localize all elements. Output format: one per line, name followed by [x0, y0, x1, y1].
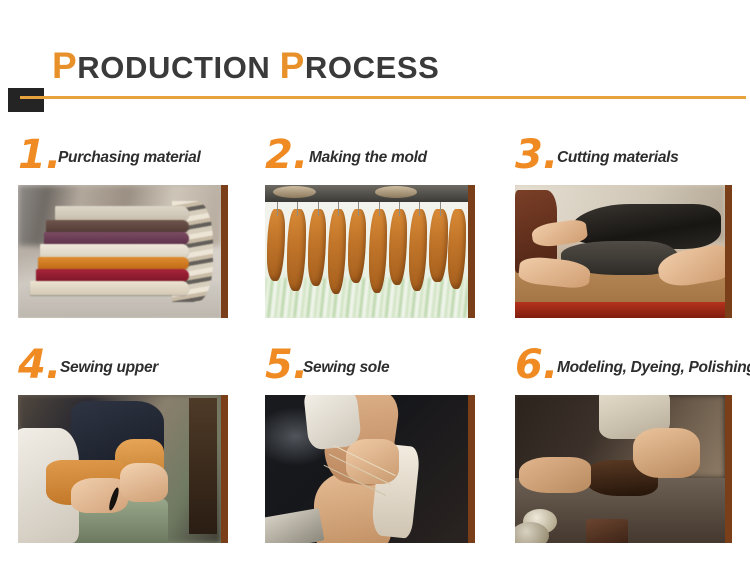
step-1-header: 1. Purchasing material [18, 139, 233, 185]
step-1-photo-inner [18, 185, 221, 318]
leather-layer [40, 244, 188, 259]
step-3-number: 3. [515, 133, 558, 177]
worker-hand [519, 457, 590, 493]
shoe-last [267, 209, 285, 281]
step-5-header: 5. Sewing sole [265, 349, 480, 395]
workbench-tray [265, 508, 324, 543]
worker-hand [346, 439, 399, 483]
shoe-last [389, 209, 407, 285]
shoe-last [429, 209, 447, 282]
step-6-photo [515, 395, 732, 543]
shoe-last [448, 209, 466, 289]
polishing-rag [586, 519, 628, 543]
leather-layer [55, 206, 189, 221]
step-6-photo-inner [515, 395, 725, 543]
process-step-1: 1. Purchasing material [18, 139, 233, 318]
step-6-label: Modeling, Dyeing, Polishing [557, 359, 750, 377]
step-4-number: 4. [18, 343, 61, 387]
process-step-2: 2. Making the mold [265, 139, 480, 318]
shoe-last [348, 209, 366, 283]
worker-hand [633, 428, 700, 478]
worker-hand [120, 463, 169, 501]
process-step-3: 3. Cutting materials [515, 139, 735, 318]
wooden-chair [189, 398, 217, 534]
step-3-photo [515, 185, 732, 318]
step-3-header: 3. Cutting materials [515, 139, 735, 185]
step-3-label: Cutting materials [557, 149, 679, 167]
leather-layer [30, 281, 188, 296]
step-1-number: 1. [18, 133, 61, 177]
step-2-number: 2. [265, 133, 308, 177]
step-4-photo-inner [18, 395, 221, 543]
step-5-photo [265, 395, 475, 543]
shoe-last [308, 209, 326, 286]
step-5-number: 5. [265, 343, 308, 387]
step-2-photo [265, 185, 475, 318]
step-5-photo-inner [265, 395, 468, 543]
process-step-6: 6. Modeling, Dyeing, Polishing [515, 349, 745, 543]
step-1-label: Purchasing material [58, 149, 200, 167]
step-3-photo-inner [515, 185, 725, 318]
step-4-photo [18, 395, 228, 543]
process-steps-grid: 1. Purchasing material 2. Making the mol… [0, 0, 750, 567]
photo-table-edge [515, 302, 725, 318]
step-2-label: Making the mold [309, 149, 427, 167]
step-6-header: 6. Modeling, Dyeing, Polishing [515, 349, 745, 395]
process-step-4: 4. Sewing upper [18, 349, 233, 543]
step-4-header: 4. Sewing upper [18, 349, 233, 395]
step-1-photo [18, 185, 228, 318]
step-2-header: 2. Making the mold [265, 139, 480, 185]
step-5-label: Sewing sole [303, 359, 389, 377]
step-4-label: Sewing upper [60, 359, 158, 377]
polish-tin [515, 522, 549, 543]
leather-layer [46, 220, 188, 233]
step-2-photo-inner [265, 185, 468, 318]
step-6-number: 6. [515, 343, 558, 387]
leather-layer [44, 232, 188, 245]
process-step-5: 5. Sewing sole [265, 349, 480, 543]
